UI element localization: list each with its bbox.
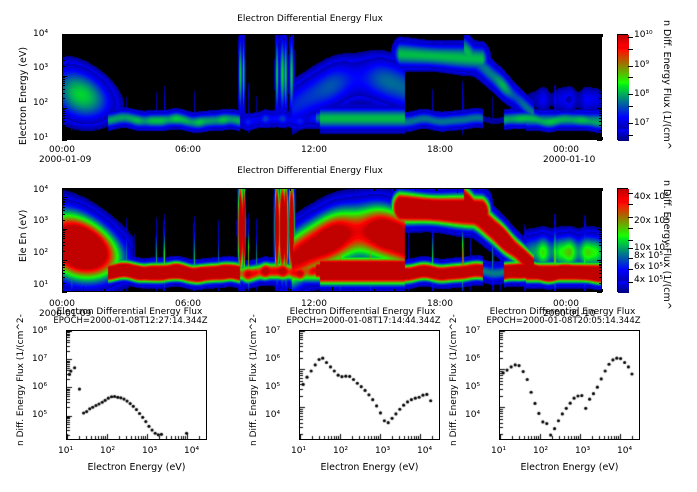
axis-tick — [599, 53, 602, 54]
axis-tick — [599, 115, 602, 116]
axis-tick — [62, 289, 63, 292]
axis-tick — [599, 264, 602, 265]
colorbar-tick — [628, 77, 633, 78]
axis-tick — [477, 289, 478, 292]
axis-tick — [270, 137, 271, 140]
sp1-ytick-3: 10⁴ — [265, 410, 280, 420]
axis-tick — [62, 201, 65, 202]
spec2-cbtick-4: 6x 10⁵ — [634, 262, 663, 272]
axis-tick — [599, 230, 602, 231]
axis-tick — [599, 81, 602, 82]
sp2-plot[interactable] — [499, 330, 640, 440]
axis-tick — [124, 137, 125, 140]
axis-tick — [599, 45, 602, 46]
spec2-ytick-1: 10³ — [33, 216, 48, 226]
colorbar-tick — [628, 135, 633, 136]
axis-tick — [311, 34, 312, 37]
axis-tick — [599, 283, 602, 284]
spec1-ylabel: Electron Energy (eV) — [18, 47, 29, 145]
spec1-xtick-4: 00:00 — [553, 145, 579, 155]
colorbar-tick — [628, 258, 633, 259]
spec1-title: Electron Differential Energy Flux — [0, 14, 620, 24]
axis-tick — [597, 260, 602, 261]
sp0-subtitle: EPOCH=2000-01-08T12:27:14.344Z — [18, 316, 243, 326]
axis-tick — [599, 277, 602, 278]
sp0-xtick-1: 10² — [100, 446, 115, 456]
sp1-xtick-0: 10¹ — [291, 446, 306, 456]
axis-tick — [62, 66, 65, 67]
axis-tick — [62, 113, 65, 114]
sp2-ytick-2: 10⁵ — [465, 382, 480, 392]
axis-tick — [599, 210, 602, 211]
axis-tick — [599, 232, 602, 233]
axis-tick — [519, 34, 520, 37]
colorbar-tick — [628, 94, 633, 95]
axis-tick — [62, 34, 63, 37]
sp2-xtick-0: 10¹ — [491, 446, 506, 456]
axis-tick — [436, 289, 437, 292]
axis-tick — [599, 56, 602, 57]
axis-tick — [599, 238, 602, 239]
axis-tick — [83, 287, 84, 292]
axis-tick — [394, 34, 395, 37]
colorbar-tick — [628, 193, 633, 194]
axis-tick — [560, 188, 561, 191]
axis-tick — [599, 47, 602, 48]
axis-tick — [581, 34, 582, 39]
axis-tick — [228, 137, 229, 140]
axis-tick — [145, 289, 146, 292]
axis-tick — [228, 188, 229, 191]
axis-tick — [597, 108, 602, 109]
axis-tick — [62, 76, 67, 77]
axis-tick — [62, 210, 65, 211]
spec1-xdate-left: 2000-01-09 — [39, 155, 91, 165]
axis-tick — [62, 140, 67, 141]
axis-tick — [597, 197, 602, 198]
axis-tick — [166, 137, 167, 140]
axis-tick — [62, 242, 65, 243]
axis-tick — [599, 265, 602, 266]
axis-tick — [62, 45, 65, 46]
axis-tick — [599, 83, 602, 84]
axis-tick — [124, 34, 125, 37]
axis-tick — [83, 135, 84, 140]
axis-tick — [62, 115, 65, 116]
axis-tick — [581, 287, 582, 292]
axis-tick — [62, 130, 65, 131]
axis-tick — [332, 287, 333, 292]
axis-tick — [599, 89, 602, 90]
axis-tick — [311, 137, 312, 140]
axis-tick — [62, 89, 65, 90]
sp1-xtick-3: 10⁴ — [417, 446, 432, 456]
axis-tick — [599, 234, 602, 235]
axis-tick — [498, 34, 499, 37]
axis-tick — [353, 289, 354, 292]
axis-tick — [62, 108, 67, 109]
axis-tick — [353, 188, 354, 191]
spec1-cbtick-1: 10⁹ — [634, 60, 649, 70]
axis-tick — [597, 44, 602, 45]
axis-tick — [599, 207, 602, 208]
axis-tick — [599, 220, 602, 221]
axis-tick — [477, 137, 478, 140]
axis-tick — [62, 236, 65, 237]
axis-tick — [599, 109, 602, 110]
axis-tick — [62, 204, 65, 205]
axis-tick — [374, 289, 375, 292]
axis-tick — [599, 262, 602, 263]
spec1-xtick-0: 00:00 — [49, 145, 75, 155]
spec2-ytick-2: 10² — [33, 248, 48, 258]
axis-tick — [290, 137, 291, 140]
sp2-xtick-3: 10⁴ — [617, 446, 632, 456]
axis-tick — [602, 34, 603, 37]
axis-tick — [187, 34, 188, 37]
spec2-cbtick-3: 8x 10⁵ — [634, 251, 663, 261]
axis-tick — [124, 289, 125, 292]
axis-tick — [311, 188, 312, 191]
axis-tick — [599, 93, 602, 94]
spec1-frame — [62, 34, 602, 140]
axis-tick — [83, 188, 84, 193]
axis-tick — [62, 220, 65, 221]
axis-tick — [332, 188, 333, 193]
axis-tick — [332, 34, 333, 39]
axis-tick — [166, 289, 167, 292]
sp2-ytick-3: 10⁴ — [465, 410, 480, 420]
axis-tick — [457, 188, 458, 193]
axis-tick — [62, 229, 67, 230]
axis-tick — [62, 292, 67, 293]
spec1-cbtick-0: 10¹⁰ — [634, 30, 653, 40]
colorbar-tick — [628, 228, 633, 229]
axis-tick — [415, 188, 416, 191]
axis-tick — [62, 47, 65, 48]
axis-tick — [436, 137, 437, 140]
axis-tick — [62, 60, 65, 61]
axis-tick — [519, 137, 520, 140]
axis-tick — [249, 137, 250, 140]
axis-tick — [207, 188, 208, 193]
axis-tick — [599, 204, 602, 205]
axis-tick — [415, 34, 416, 37]
colorbar-tick — [628, 123, 633, 124]
sp1-ytick-1: 10⁶ — [265, 354, 280, 364]
axis-tick — [540, 188, 541, 191]
sp0-xlabel: Electron Energy (eV) — [66, 462, 207, 473]
axis-tick — [436, 34, 437, 37]
axis-tick — [599, 214, 602, 215]
axis-tick — [62, 265, 65, 266]
spec1-xtick-3: 18:00 — [427, 145, 453, 155]
axis-tick — [599, 121, 602, 122]
axis-tick — [62, 111, 65, 112]
axis-tick — [104, 289, 105, 292]
axis-tick — [207, 287, 208, 292]
spec2-ytick-3: 10¹ — [33, 280, 48, 290]
axis-tick — [62, 81, 65, 82]
sp0-xtick-0: 10¹ — [58, 446, 73, 456]
axis-tick — [166, 188, 167, 191]
axis-tick — [597, 76, 602, 77]
sp1-plot[interactable] — [299, 330, 440, 440]
axis-tick — [207, 34, 208, 39]
axis-tick — [599, 77, 602, 78]
axis-tick — [560, 137, 561, 140]
axis-tick — [145, 137, 146, 140]
spec2-ylabel: Ele En (eV) — [18, 210, 29, 262]
axis-tick — [228, 289, 229, 292]
spec2-colorbar[interactable] — [617, 188, 628, 292]
sp0-ytick-0: 10⁸ — [32, 326, 47, 336]
axis-tick — [415, 137, 416, 140]
axis-tick — [599, 125, 602, 126]
axis-tick — [62, 264, 65, 265]
axis-tick — [207, 135, 208, 140]
sp2-xtick-2: 10³ — [575, 446, 590, 456]
axis-tick — [187, 289, 188, 292]
axis-tick — [599, 130, 602, 131]
colorbar-tick — [628, 106, 633, 107]
axis-tick — [270, 34, 271, 37]
axis-tick — [599, 267, 602, 268]
axis-tick — [581, 135, 582, 140]
axis-tick — [62, 85, 65, 86]
axis-tick — [62, 93, 65, 94]
axis-tick — [62, 245, 65, 246]
axis-tick — [597, 140, 602, 141]
axis-tick — [599, 201, 602, 202]
spec1-ytick-2: 10² — [33, 98, 48, 108]
axis-tick — [62, 273, 65, 274]
axis-tick — [62, 79, 65, 80]
axis-tick — [597, 292, 602, 293]
colorbar-tick — [628, 49, 633, 50]
axis-tick — [62, 98, 65, 99]
axis-tick — [62, 197, 67, 198]
axis-tick — [166, 34, 167, 37]
axis-tick — [145, 34, 146, 37]
axis-tick — [599, 245, 602, 246]
axis-tick — [599, 118, 602, 119]
sp2-subtitle: EPOCH=2000-01-08T20:05:14.344Z — [451, 316, 676, 326]
axis-tick — [498, 188, 499, 191]
axis-tick — [270, 289, 271, 292]
axis-tick — [599, 85, 602, 86]
sp0-ylabel: n Diff. Energy Flux (1/(cm^2- — [16, 314, 26, 446]
axis-tick — [374, 188, 375, 191]
axis-tick — [270, 188, 271, 191]
axis-tick — [540, 34, 541, 37]
axis-tick — [62, 51, 65, 52]
spec1-colorbar[interactable] — [617, 34, 628, 140]
sp0-xtick-3: 10⁴ — [184, 446, 199, 456]
axis-tick — [599, 199, 602, 200]
axis-tick — [104, 34, 105, 37]
spec1-ytick-0: 10⁴ — [33, 29, 48, 39]
sp1-subtitle: EPOCH=2000-01-08T17:14:44.344Z — [251, 316, 476, 326]
axis-tick — [436, 188, 437, 191]
sp1-xtick-1: 10² — [333, 446, 348, 456]
axis-tick — [145, 188, 146, 191]
spec1-colorbar-label: n Diff. Energy Flux (1/(cm^ — [661, 20, 672, 150]
sp0-xtick-2: 10³ — [142, 446, 157, 456]
axis-tick — [62, 232, 65, 233]
axis-tick — [62, 251, 65, 252]
sp1-xlabel: Electron Energy (eV) — [299, 462, 440, 473]
axis-tick — [62, 260, 67, 261]
axis-tick — [62, 234, 65, 235]
axis-tick — [290, 34, 291, 37]
axis-tick — [62, 238, 65, 239]
spec1-cbtick-3: 10⁷ — [634, 118, 649, 128]
axis-tick — [498, 289, 499, 292]
sp1-ytick-0: 10⁷ — [265, 326, 280, 336]
axis-tick — [560, 34, 561, 37]
axis-tick — [477, 34, 478, 37]
spec1-cbtick-2: 10⁸ — [634, 89, 649, 99]
axis-tick — [249, 34, 250, 37]
spec1-ytick-1: 10³ — [33, 63, 48, 73]
axis-tick — [599, 60, 602, 61]
axis-tick — [599, 113, 602, 114]
colorbar-tick — [628, 248, 633, 249]
axis-tick — [62, 270, 65, 271]
sp2-ylabel: n Diff. Energy Flux (1/(cm^2- — [449, 314, 459, 446]
spec1-xdate-right: 2000-01-10 — [543, 155, 595, 165]
axis-tick — [62, 109, 65, 110]
colorbar-tick — [628, 240, 633, 241]
axis-tick — [332, 135, 333, 140]
axis-tick — [394, 188, 395, 191]
axis-tick — [599, 49, 602, 50]
sp2-xtick-1: 10² — [533, 446, 548, 456]
spec2-colorbar-label: n Diff. Energy Flux (1/(cm^ — [661, 180, 672, 310]
axis-tick — [599, 236, 602, 237]
axis-tick — [62, 283, 65, 284]
sp2-ytick-0: 10⁷ — [465, 326, 480, 336]
axis-tick — [415, 289, 416, 292]
axis-tick — [477, 188, 478, 191]
sp0-plot[interactable] — [66, 330, 207, 440]
colorbar-tick — [628, 66, 633, 67]
axis-tick — [249, 289, 250, 292]
axis-tick — [187, 137, 188, 140]
sp0-ytick-2: 10⁶ — [32, 382, 47, 392]
axis-tick — [599, 98, 602, 99]
axis-tick — [62, 56, 65, 57]
axis-tick — [519, 289, 520, 292]
sp0-ytick-1: 10⁷ — [32, 354, 47, 364]
axis-tick — [290, 289, 291, 292]
axis-tick — [62, 118, 65, 119]
axis-tick — [374, 34, 375, 37]
colorbar-tick — [628, 217, 633, 218]
axis-tick — [62, 214, 65, 215]
spec1-ytick-3: 10¹ — [33, 133, 48, 143]
colorbar-tick — [628, 37, 633, 38]
colorbar-tick — [628, 269, 633, 270]
axis-tick — [290, 188, 291, 191]
axis-tick — [394, 137, 395, 140]
axis-tick — [599, 273, 602, 274]
spec2-frame — [62, 188, 602, 292]
axis-tick — [581, 188, 582, 193]
axis-tick — [62, 83, 65, 84]
axis-tick — [599, 270, 602, 271]
axis-tick — [599, 66, 602, 67]
axis-tick — [560, 289, 561, 292]
axis-tick — [62, 137, 63, 140]
axis-tick — [62, 53, 65, 54]
spec2-ytick-0: 10⁴ — [33, 185, 48, 195]
axis-tick — [602, 137, 603, 140]
axis-tick — [540, 137, 541, 140]
axis-tick — [187, 188, 188, 191]
axis-tick — [457, 135, 458, 140]
axis-tick — [602, 188, 603, 191]
axis-tick — [457, 287, 458, 292]
axis-tick — [498, 137, 499, 140]
spec1-xtick-1: 06:00 — [175, 145, 201, 155]
sp2-ytick-1: 10⁶ — [465, 354, 480, 364]
axis-tick — [62, 199, 65, 200]
axis-tick — [62, 125, 65, 126]
axis-tick — [599, 51, 602, 52]
axis-tick — [353, 137, 354, 140]
axis-tick — [62, 202, 65, 203]
axis-tick — [83, 34, 84, 39]
axis-tick — [599, 202, 602, 203]
axis-tick — [62, 207, 65, 208]
axis-tick — [249, 188, 250, 191]
axis-tick — [62, 77, 65, 78]
axis-tick — [62, 267, 65, 268]
axis-tick — [228, 34, 229, 37]
axis-tick — [394, 289, 395, 292]
spec2-title: Electron Differential Energy Flux — [0, 166, 620, 176]
axis-tick — [540, 289, 541, 292]
axis-tick — [62, 230, 65, 231]
axis-tick — [62, 277, 65, 278]
spec2-cbtick-5: 4x 10⁵ — [634, 275, 663, 285]
axis-tick — [599, 242, 602, 243]
sp1-ylabel: n Diff. Energy Flux (1/(cm^2- — [249, 314, 259, 446]
spec1-xtick-2: 12:00 — [301, 145, 327, 155]
axis-tick — [374, 137, 375, 140]
axis-tick — [457, 34, 458, 39]
axis-tick — [104, 188, 105, 191]
axis-tick — [599, 251, 602, 252]
sp1-ytick-2: 10⁵ — [265, 382, 280, 392]
axis-tick — [62, 188, 63, 191]
axis-tick — [597, 229, 602, 230]
axis-tick — [599, 111, 602, 112]
colorbar-tick — [628, 282, 633, 283]
axis-tick — [519, 188, 520, 191]
axis-tick — [62, 121, 65, 122]
axis-tick — [353, 34, 354, 37]
axis-tick — [602, 289, 603, 292]
axis-tick — [104, 137, 105, 140]
sp0-ytick-3: 10⁵ — [32, 410, 47, 420]
axis-tick — [62, 44, 67, 45]
colorbar-tick — [628, 204, 633, 205]
axis-tick — [62, 262, 65, 263]
sp1-xtick-2: 10³ — [375, 446, 390, 456]
